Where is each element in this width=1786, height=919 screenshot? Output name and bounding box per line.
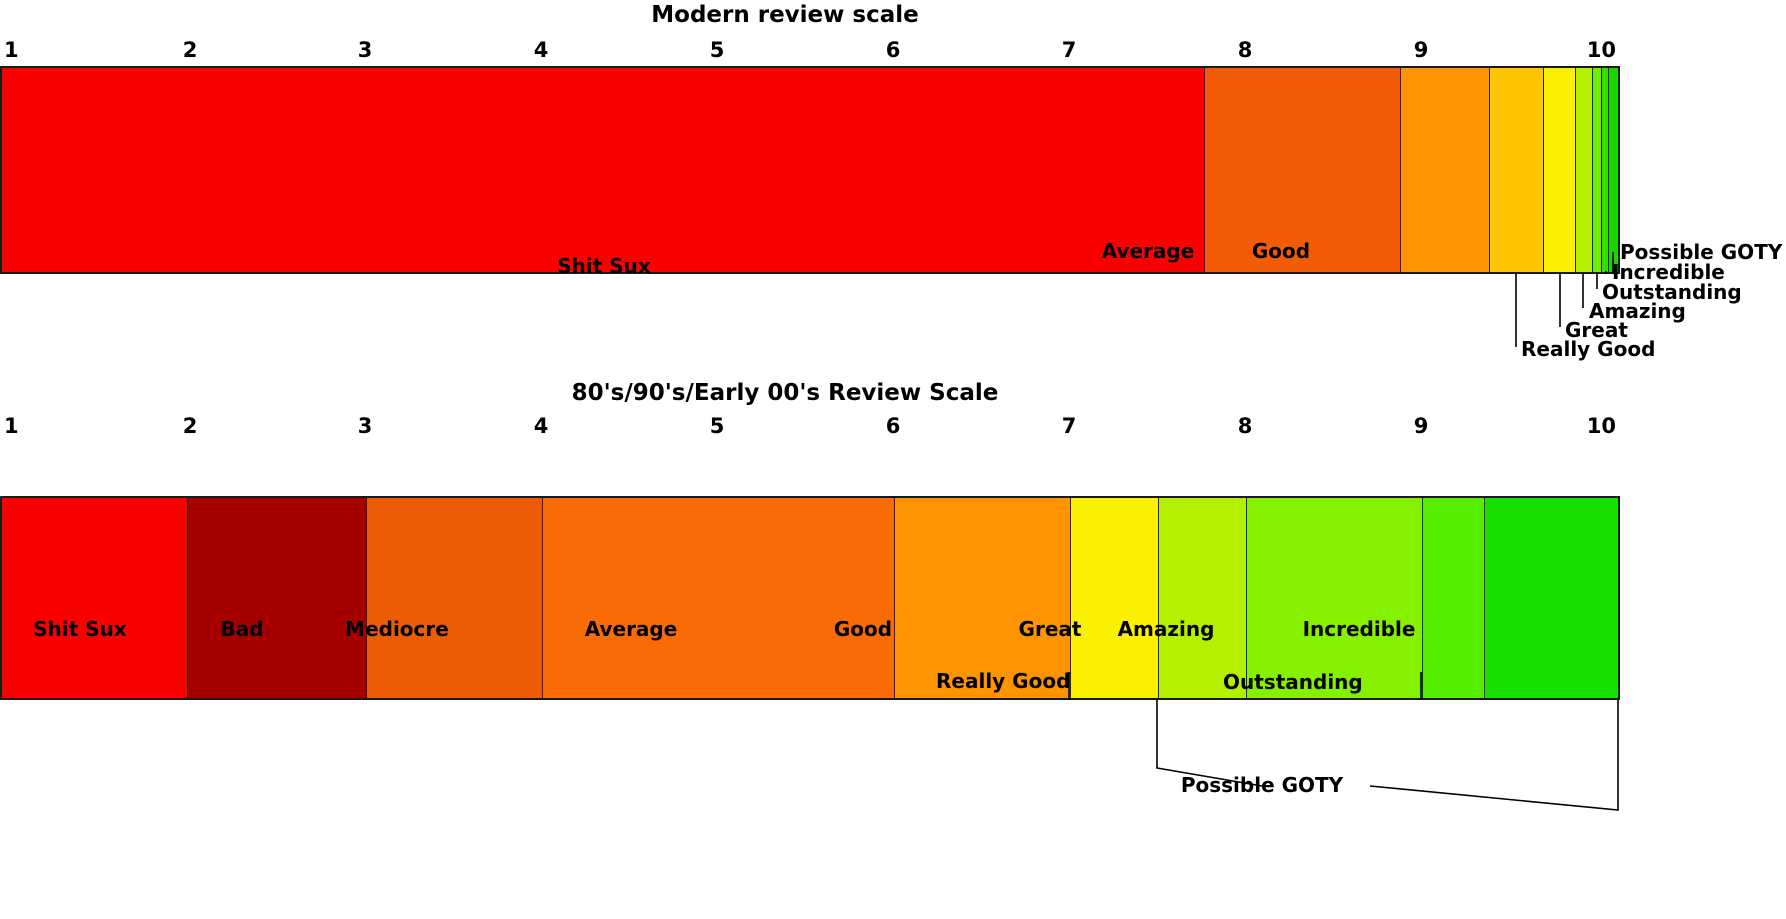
chart2-segment-great (1159, 498, 1247, 698)
chart1-tick-5: 5 (710, 38, 725, 62)
chart1-tick-4: 4 (534, 38, 549, 62)
chart2-segment-average (543, 498, 895, 698)
chart2-title: 80's/90's/Early 00's Review Scale (0, 380, 1570, 406)
chart2-segment-mediocre (367, 498, 543, 698)
chart2-segment-good (895, 498, 1071, 698)
chart2-label-average: Average (585, 618, 678, 641)
chart2-tick-2: 2 (183, 414, 198, 438)
chart1-segment-incredible (1602, 68, 1609, 272)
chart2-segment-amazing (1247, 498, 1423, 698)
chart2-label-shit-sux: Shit Sux (33, 618, 127, 641)
chart2-label-bad: Bad (220, 618, 263, 641)
chart2-tick-1: 1 (4, 414, 19, 438)
chart2-tick-5: 5 (710, 414, 725, 438)
chart1-tick-9: 9 (1414, 38, 1429, 62)
chart2-label-good: Good (834, 618, 892, 641)
chart1-label-good: Good (1252, 240, 1310, 263)
chart2-segment-really-good (1071, 498, 1159, 698)
chart2-label-incredible: Incredible (1303, 618, 1416, 641)
chart1-segment-great (1544, 68, 1576, 272)
chart2-tick-6: 6 (886, 414, 901, 438)
chart2-tick-8: 8 (1238, 414, 1253, 438)
chart1-segment-possible-goty (1609, 68, 1618, 272)
chart1-segment-really-good (1490, 68, 1544, 272)
chart1-label-average: Average (1102, 240, 1195, 263)
chart2-segment-incredible (1485, 498, 1618, 698)
chart1-segment-shit-sux (2, 68, 1205, 272)
chart2-segment-shit-sux (2, 498, 188, 698)
chart2-tick-10: 10 (1587, 414, 1616, 438)
chart2-segment-outstanding (1423, 498, 1485, 698)
chart1-tick-8: 8 (1238, 38, 1253, 62)
chart1-segment-amazing (1576, 68, 1593, 272)
chart1-label-shit-sux: Shit Sux (557, 255, 651, 278)
chart1-tick-10: 10 (1587, 38, 1616, 62)
chart1-axis-ticks: 1 2 3 4 5 6 7 8 9 10 (0, 38, 1786, 64)
chart1-tick-1: 1 (4, 38, 19, 62)
chart2-tick-3: 3 (358, 414, 373, 438)
chart2-label-great: Great (1019, 618, 1082, 641)
chart2-tick-9: 9 (1414, 414, 1429, 438)
chart1-tick-6: 6 (886, 38, 901, 62)
chart1-title: Modern review scale (0, 2, 1570, 28)
chart2-color-bar (0, 496, 1620, 700)
chart1-tick-7: 7 (1062, 38, 1077, 62)
chart2-segment-bad (188, 498, 367, 698)
chart2-label-amazing: Amazing (1118, 618, 1215, 641)
chart2-label-possible-goty: Possible GOTY (1181, 774, 1343, 797)
chart2-tick-4: 4 (534, 414, 549, 438)
chart2-label-really-good: Really Good (936, 670, 1070, 693)
chart1-color-bar (0, 66, 1620, 274)
chart1-segment-good (1401, 68, 1490, 272)
chart1-label-really-good: Really Good (1521, 338, 1655, 361)
chart1-segment-outstanding (1593, 68, 1602, 272)
chart2-label-mediocre: Mediocre (345, 618, 449, 641)
chart2-label-outstanding: Outstanding (1223, 671, 1363, 694)
chart1-tick-3: 3 (358, 38, 373, 62)
chart2-tick-7: 7 (1062, 414, 1077, 438)
chart2-axis-ticks: 1 2 3 4 5 6 7 8 9 10 (0, 414, 1786, 440)
chart1-tick-2: 2 (183, 38, 198, 62)
